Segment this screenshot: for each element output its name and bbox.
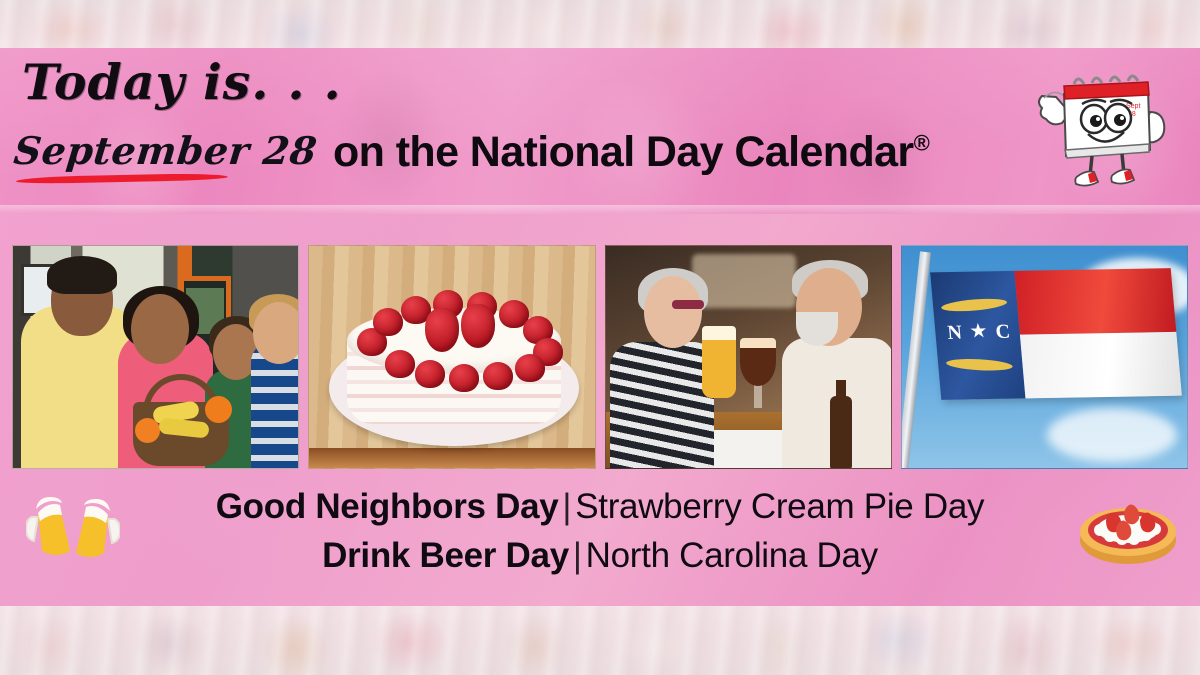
wooden-board-edge <box>309 448 595 468</box>
photo-strawberry-cream-pie <box>308 245 595 469</box>
title-separator-1: | <box>558 487 575 526</box>
crowd-backdrop-top <box>0 0 1200 52</box>
neighbor-man-hair <box>47 256 117 294</box>
registered-mark: ® <box>914 131 930 156</box>
photo-north-carolina: N ★ C <box>901 245 1188 469</box>
strawberry-ring-13 <box>385 350 415 378</box>
beer-glass-dark <box>740 338 776 386</box>
title-line-2: Drink Beer Day|North Carolina Day <box>0 531 1200 580</box>
flag-pole <box>901 251 931 469</box>
calendar-mascot-icon: Sept 28 <box>1034 64 1174 196</box>
flag-white-bar <box>1020 332 1182 398</box>
title-good-neighbors-day: Good Neighbors Day <box>216 487 559 526</box>
crowd-streaks-top <box>0 0 1200 52</box>
strawberry-ring-11 <box>449 364 479 392</box>
flag-letter-n: N <box>946 322 962 345</box>
day-titles: Good Neighbors Day|Strawberry Cream Pie … <box>0 482 1200 580</box>
strawberry-ring-10 <box>483 362 513 390</box>
photo-drink-beer <box>605 245 892 469</box>
title-separator-2: | <box>569 536 586 575</box>
title-line-1: Good Neighbors Day|Strawberry Cream Pie … <box>0 482 1200 531</box>
beer-bottle <box>830 396 852 469</box>
beer-glass-stem <box>754 384 762 408</box>
strawberry-ring-2 <box>373 308 403 336</box>
graphic-canvas: Today is. . . September 28 on the Nation… <box>0 0 1200 675</box>
north-carolina-flag: N ★ C <box>930 268 1182 400</box>
photo-good-neighbors <box>12 245 299 469</box>
date-headline-row: September 28 on the National Day Calenda… <box>14 126 929 175</box>
title-drink-beer-day: Drink Beer Day <box>322 536 569 575</box>
beer-glass-lager <box>702 326 736 398</box>
crowd-streaks-bottom <box>0 604 1200 675</box>
header-divider <box>0 205 1200 214</box>
headline-text: on the National Day Calendar <box>333 128 914 176</box>
date-text: September 28 <box>12 128 320 173</box>
flag-star-icon: ★ <box>968 321 988 341</box>
crowd-backdrop-bottom <box>0 604 1200 675</box>
strawberry-center-1 <box>425 308 459 352</box>
cloud-2 <box>1047 408 1177 462</box>
title-north-carolina-day: North Carolina Day <box>586 536 878 575</box>
strawberry-center-2 <box>461 304 495 348</box>
strawberry-ring-9 <box>515 354 545 382</box>
woman-head <box>644 276 702 348</box>
date-script-wrap: September 28 <box>14 128 333 173</box>
woman-glasses <box>672 300 704 309</box>
orange-fruit-2 <box>205 396 232 423</box>
headline-wrap: on the National Day Calendar® <box>333 128 929 177</box>
neighbor-man2-head <box>253 302 299 364</box>
photo-row: N ★ C <box>0 245 1200 469</box>
flag-letter-c: C <box>994 321 1010 344</box>
title-strawberry-cream-pie-day: Strawberry Cream Pie Day <box>575 487 984 526</box>
neighbor-woman-head <box>131 294 189 364</box>
today-is-text: Today is. . . <box>22 53 342 111</box>
flag-red-bar <box>1014 268 1176 334</box>
strawberry-ring-12 <box>415 360 445 388</box>
woman-striped-top <box>610 342 714 469</box>
